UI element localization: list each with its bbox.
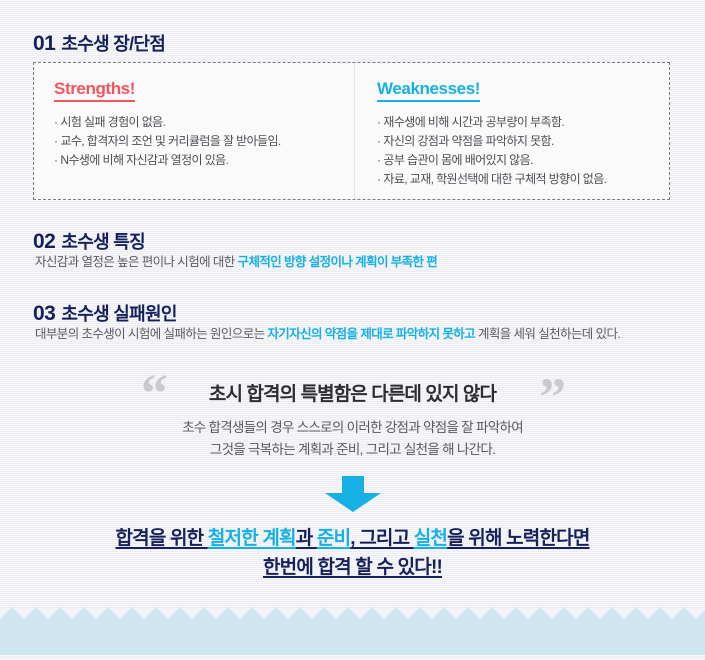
infographic-page: 01 초수생 장/단점 Strengths! 시험 실패 경험이 없음. 교수,… [0,0,705,655]
strengths-column: Strengths! 시험 실패 경험이 없음. 교수, 합격자의 조언 및 커… [34,63,354,199]
section-03-description: 대부분의 초수생이 시험에 실패하는 원인으로는 자기자신의 약점을 제대로 파… [35,325,635,344]
conclusion-block: 합격을 위한 철저한 계획과 준비, 그리고 실천을 위해 노력한다면 한번에 … [0,524,705,582]
weaknesses-heading: Weaknesses! [377,79,480,102]
section-02-desc-pre: 자신감과 열정은 높은 편이나 시험에 대한 [35,255,238,269]
section-02-heading: 02 초수생 특징 [33,228,145,254]
section-02-title: 초수생 특징 [61,228,145,254]
bottom-sawtooth-decoration [0,605,705,655]
list-item: N수생에 비해 자신감과 열정이 있음. [54,151,354,170]
conclusion-part-4: 을 위해 노력한다면 [447,528,589,549]
section-03-desc-post: 계획을 세워 실천하는데 있다. [475,327,620,341]
conclusion-highlight-2: 준비 [317,528,350,549]
quote-body-line-2: 그것을 극복하는 계획과 준비, 그리고 실천을 해 나간다. [0,439,705,461]
swot-box: Strengths! 시험 실패 경험이 없음. 교수, 합격자의 조언 및 커… [33,62,670,200]
conclusion-highlight-3: 실천 [414,528,447,549]
quote-body: 초수 합격생들의 경우 스스로의 이러한 강점과 약점을 잘 파악하여 그것을 … [0,417,705,461]
section-02-desc-highlight: 구체적인 방향 설정이나 계획이 부족한 편 [238,255,438,269]
weaknesses-list: 재수생에 비해 시간과 공부량이 부족함. 자신의 강점과 약점을 파악하지 못… [377,113,670,189]
quote-body-line-1: 초수 합격생들의 경우 스스로의 이러한 강점과 약점을 잘 파악하여 [0,417,705,439]
quote-close-icon: ” [539,370,564,424]
quote-block: “ 초시 합격의 특별함은 다른데 있지 않다 ” 초수 합격생들의 경우 스스… [0,380,705,461]
section-01-number: 01 [33,32,55,56]
conclusion-line-1: 합격을 위한 철저한 계획과 준비, 그리고 실천을 위해 노력한다면 [0,524,705,553]
section-03-heading: 03 초수생 실패원인 [33,300,177,326]
section-01-heading: 01 초수생 장/단점 [33,30,165,56]
list-item: 공부 습관이 몸에 배어있지 않음. [377,151,670,170]
section-03-desc-highlight: 자기자신의 약점을 제대로 파악하지 못하고 [267,327,475,341]
quote-open-icon: “ [141,366,166,420]
conclusion-highlight-1: 철저한 계획 [208,528,296,549]
section-02-description: 자신감과 열정은 높은 편이나 시험에 대한 구체적인 방향 설정이나 계획이 … [35,253,675,272]
list-item: 시험 실패 경험이 없음. [54,113,354,132]
quote-headline-row: “ 초시 합격의 특별함은 다른데 있지 않다 ” [147,380,558,410]
conclusion-line-2-row: 한번에 합격 할 수 있다!! [0,553,705,582]
section-03-desc-pre: 대부분의 초수생이 시험에 실패하는 원인으로는 [35,327,267,341]
quote-headline: 초시 합격의 특별함은 다른데 있지 않다 [209,384,496,405]
section-02-number: 02 [33,230,55,254]
section-01-title: 초수생 장/단점 [61,30,165,56]
conclusion-line-2: 한번에 합격 할 수 있다!! [263,557,442,578]
section-03-number: 03 [33,302,55,326]
list-item: 자신의 강점과 약점을 파악하지 못함. [377,132,670,151]
conclusion-part-2: 과 [296,528,317,549]
list-item: 교수, 합격자의 조언 및 커리큘럼을 잘 받아들임. [54,132,354,151]
strengths-heading: Strengths! [54,79,135,102]
weaknesses-column: Weaknesses! 재수생에 비해 시간과 공부량이 부족함. 자신의 강점… [354,63,670,199]
section-03-title: 초수생 실패원인 [61,300,176,326]
strengths-list: 시험 실패 경험이 없음. 교수, 합격자의 조언 및 커리큘럼을 잘 받아들임… [54,113,354,170]
list-item: 재수생에 비해 시간과 공부량이 부족함. [377,113,670,132]
conclusion-part-1: 합격을 위한 [115,528,207,549]
conclusion-part-3: , 그리고 [350,528,413,549]
list-item: 자료, 교재, 학원선택에 대한 구체적 방향이 없음. [377,170,670,189]
arrow-down-icon [323,476,383,512]
